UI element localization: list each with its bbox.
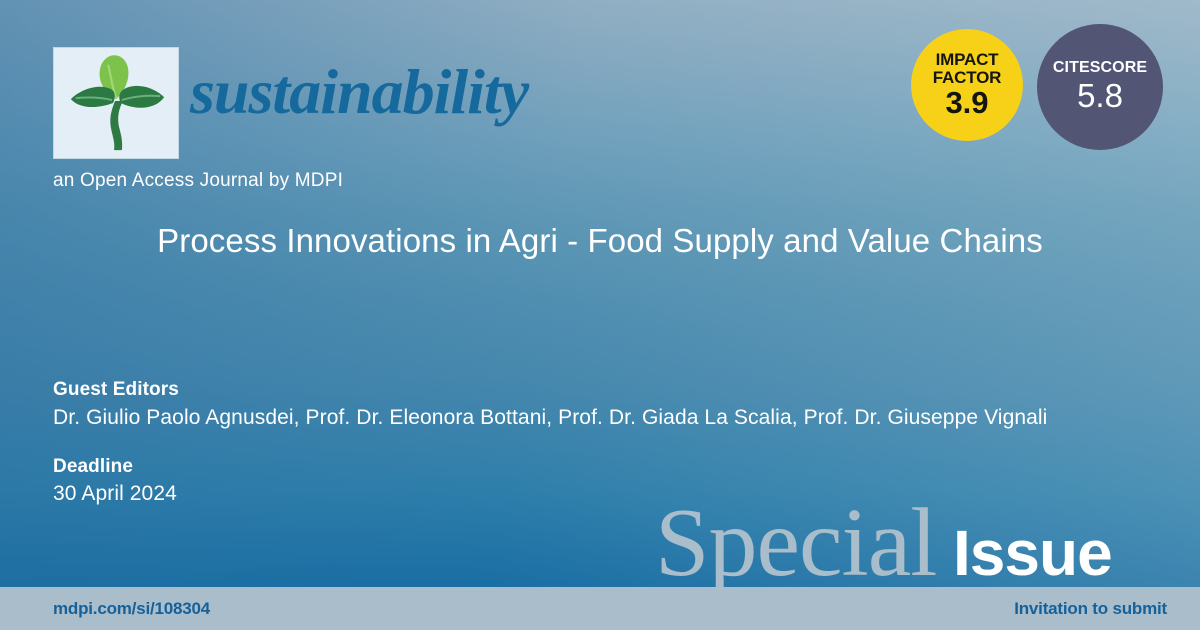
citescore-badge: CITESCORE 5.8 <box>1037 24 1163 150</box>
journal-logo <box>53 47 179 159</box>
impact-factor-label: IMPACT FACTOR <box>933 51 1001 86</box>
journal-wordmark: sustainability <box>190 60 528 124</box>
deadline-date: 30 April 2024 <box>53 480 1063 509</box>
impact-factor-badge: IMPACT FACTOR 3.9 <box>911 29 1023 141</box>
impact-factor-label-line1: IMPACT <box>936 50 999 69</box>
special-issue-title: Process Innovations in Agri - Food Suppl… <box>0 222 1200 260</box>
citescore-label: CITESCORE <box>1053 60 1147 77</box>
guest-editors-names: Dr. Giulio Paolo Agnusdei, Prof. Dr. Ele… <box>53 404 1063 433</box>
footer-bar: mdpi.com/si/108304 Invitation to submit <box>0 587 1200 630</box>
special-issue-poster: Special Issue sustainability an Open Acc… <box>0 0 1200 630</box>
journal-subtitle: an Open Access Journal by MDPI <box>53 170 343 192</box>
special-issue-url-link[interactable]: mdpi.com/si/108304 <box>53 599 210 619</box>
guest-editors-heading: Guest Editors <box>53 378 1063 402</box>
watermark-issue-text: Issue <box>953 521 1112 585</box>
citescore-value: 5.8 <box>1077 79 1123 114</box>
invitation-to-submit-link[interactable]: Invitation to submit <box>1014 599 1167 619</box>
deadline-heading: Deadline <box>53 455 1063 479</box>
impact-factor-label-line2: FACTOR <box>933 68 1001 87</box>
seedling-leaves-icon <box>54 48 178 158</box>
special-issue-details: Guest Editors Dr. Giulio Paolo Agnusdei,… <box>53 378 1063 509</box>
impact-factor-value: 3.9 <box>945 87 988 119</box>
